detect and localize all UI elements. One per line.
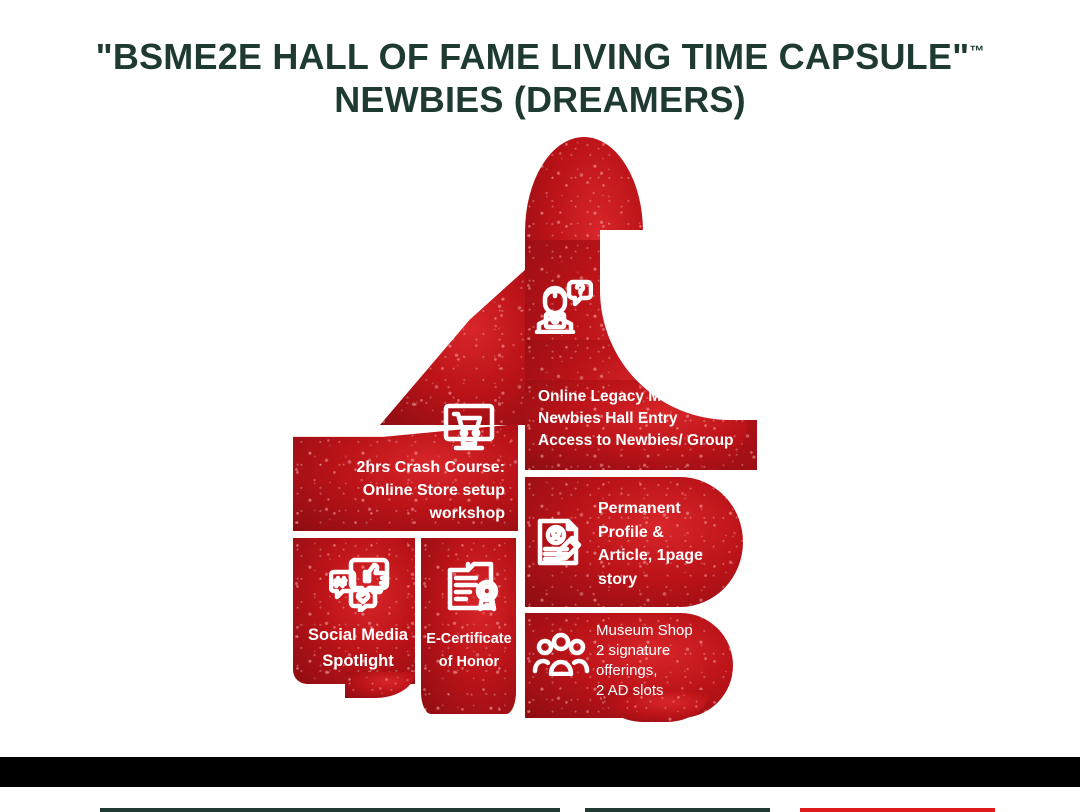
segment-social-media bbox=[293, 538, 415, 684]
segment-e-certificate bbox=[421, 538, 516, 714]
segment-permanent bbox=[525, 477, 743, 607]
segment-social-tail bbox=[345, 672, 415, 698]
footer-bar-1 bbox=[100, 808, 560, 812]
thumb-outer-notch bbox=[643, 137, 793, 287]
footer-bar-3 bbox=[800, 808, 995, 812]
footer-black-band bbox=[0, 757, 1080, 787]
infographic-canvas: "BSME2E HALL OF FAME LIVING TIME CAPSULE… bbox=[0, 0, 1080, 812]
palm-wedge-shape bbox=[380, 270, 525, 425]
footer-bar-2 bbox=[585, 808, 770, 812]
segment-crash-course bbox=[293, 424, 518, 531]
thumbs-up-graphic: Online Legacy Museum Newbies Hall Entry … bbox=[0, 0, 1080, 760]
